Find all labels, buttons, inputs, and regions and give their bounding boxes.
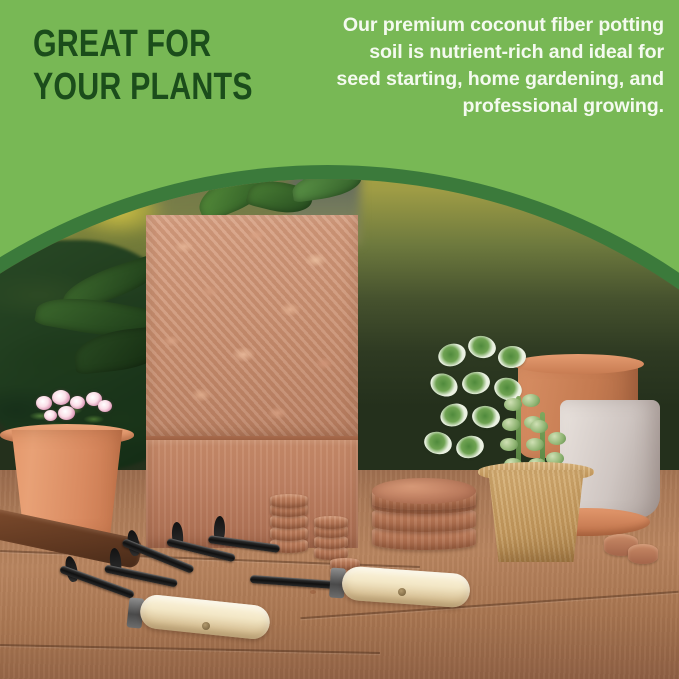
dianthus-bloom — [52, 390, 70, 405]
garden-photo — [0, 179, 679, 679]
coir-crumb — [310, 590, 316, 594]
product-description: Our premium coconut fiber potting soil i… — [334, 12, 664, 120]
page-title: GREAT FOR YOUR PLANTS — [33, 23, 273, 109]
loose-coir-disc — [628, 544, 658, 564]
photo-frame — [0, 179, 679, 679]
terracotta-pot-back-rim — [512, 354, 644, 374]
dianthus-bloom — [98, 400, 112, 412]
banner-header: GREAT FOR YOUR PLANTS Our premium coconu… — [0, 0, 679, 180]
dianthus-bloom — [36, 396, 52, 410]
dianthus-bloom — [58, 406, 75, 420]
product-banner: GREAT FOR YOUR PLANTS Our premium coconu… — [0, 0, 679, 679]
coir-brick — [146, 215, 358, 440]
dianthus-bloom — [44, 410, 57, 421]
